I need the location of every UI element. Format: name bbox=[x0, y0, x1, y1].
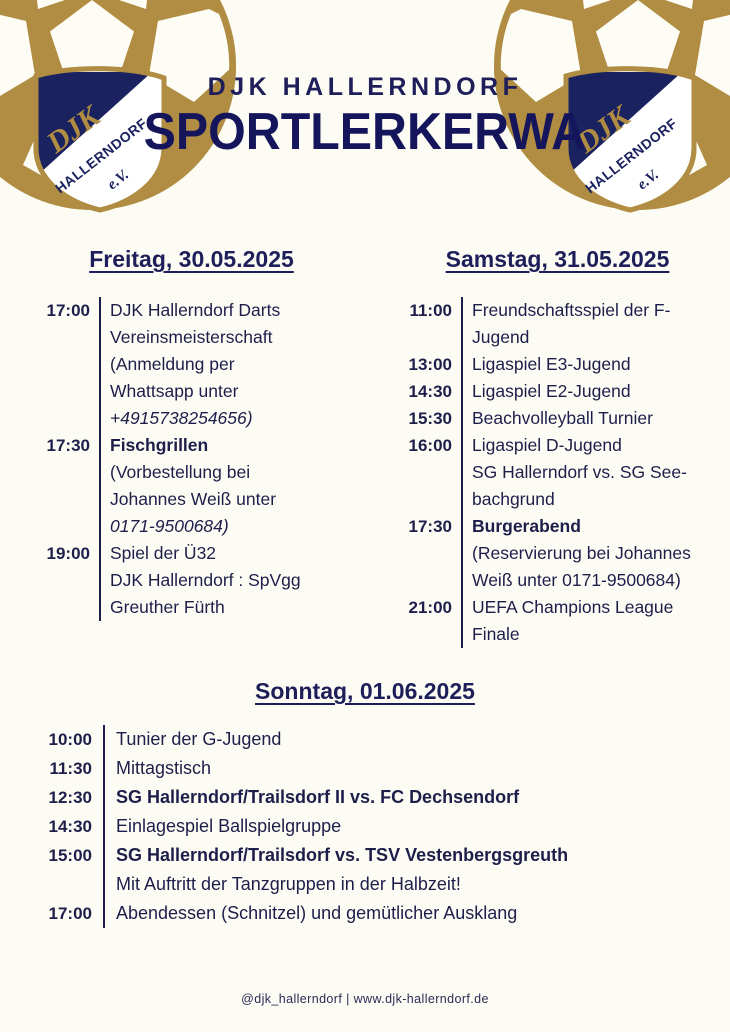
event-text: DJK Hallerndorf Darts bbox=[110, 297, 301, 324]
title-block: DJK HALLERNDORF SPORTLERKERWA bbox=[0, 0, 730, 232]
event-text: Abendessen (Schnitzel) und gemütlicher A… bbox=[116, 899, 568, 928]
event-text: SG Hallerndorf/Trailsdorf II vs. FC Dech… bbox=[116, 783, 568, 812]
time-spacer bbox=[85, 324, 90, 351]
event-text: UEFA Champions League bbox=[472, 594, 691, 621]
event-list-sonntag: Tunier der G-JugendMittagstischSG Haller… bbox=[105, 725, 568, 928]
event-text: Fischgrillen bbox=[110, 432, 301, 459]
time-spacer bbox=[87, 870, 92, 899]
event-text: Mittagstisch bbox=[116, 754, 568, 783]
event-time: 12:30 bbox=[49, 783, 92, 812]
schedule-samstag: 11:00 13:0014:3015:3016:00 17:30 21:00 F… bbox=[390, 297, 730, 648]
event-text: Burgerabend bbox=[472, 513, 691, 540]
event-time: 17:00 bbox=[47, 297, 90, 324]
time-list-samstag: 11:00 13:0014:3015:3016:00 17:30 21:00 bbox=[390, 297, 461, 648]
day-heading-freitag: Freitag, 30.05.2025 bbox=[18, 246, 365, 273]
time-spacer bbox=[447, 567, 452, 594]
event-time: 13:00 bbox=[409, 351, 452, 378]
time-spacer bbox=[85, 378, 90, 405]
time-spacer bbox=[85, 594, 90, 621]
day-heading-samstag: Samstag, 31.05.2025 bbox=[385, 246, 730, 273]
event-time: 17:30 bbox=[409, 513, 452, 540]
event-time: 14:30 bbox=[49, 812, 92, 841]
schedule-sonntag: 10:0011:3012:3014:3015:00 17:00 Tunier d… bbox=[0, 725, 730, 928]
schedule-freitag: 17:00 17:30 19:00 DJK Hallerndorf DartsV… bbox=[28, 297, 365, 621]
event-text: Ligaspiel D-Jugend bbox=[472, 432, 691, 459]
time-spacer bbox=[85, 351, 90, 378]
event-text: Whattsapp unter bbox=[110, 378, 301, 405]
time-list-freitag: 17:00 17:30 19:00 bbox=[28, 297, 99, 621]
day-columns: Freitag, 30.05.2025 17:00 17:30 19:00 DJ… bbox=[0, 246, 730, 648]
time-spacer bbox=[447, 540, 452, 567]
time-spacer bbox=[85, 405, 90, 432]
event-text: Weiß unter 0171-9500684) bbox=[472, 567, 691, 594]
event-text: (Anmeldung per bbox=[110, 351, 301, 378]
event-text: 0171-9500684) bbox=[110, 513, 301, 540]
event-list-freitag: DJK Hallerndorf DartsVereinsmeisterschaf… bbox=[101, 297, 301, 621]
event-list-samstag: Freundschaftsspiel der F-JugendLigaspiel… bbox=[463, 297, 691, 648]
event-text: Tunier der G-Jugend bbox=[116, 725, 568, 754]
event-text: Ligaspiel E2-Jugend bbox=[472, 378, 691, 405]
event-time: 19:00 bbox=[47, 540, 90, 567]
time-spacer bbox=[85, 459, 90, 486]
event-text: Beachvolleyball Turnier bbox=[472, 405, 691, 432]
event-text: Jugend bbox=[472, 324, 691, 351]
time-spacer bbox=[85, 513, 90, 540]
time-spacer bbox=[85, 486, 90, 513]
event-text: Ligaspiel E3-Jugend bbox=[472, 351, 691, 378]
event-time: 11:00 bbox=[409, 297, 452, 324]
event-text: Johannes Weiß unter bbox=[110, 486, 301, 513]
event-time: 17:00 bbox=[49, 899, 92, 928]
time-spacer bbox=[447, 486, 452, 513]
event-time: 11:30 bbox=[49, 754, 92, 783]
event-time: 15:00 bbox=[49, 841, 92, 870]
time-spacer bbox=[447, 324, 452, 351]
event-text: DJK Hallerndorf : SpVgg bbox=[110, 567, 301, 594]
event-text: (Vorbestellung bei bbox=[110, 459, 301, 486]
event-text: Vereinsmeisterschaft bbox=[110, 324, 301, 351]
event-time: 16:00 bbox=[409, 432, 452, 459]
day-column-freitag: Freitag, 30.05.2025 17:00 17:30 19:00 DJ… bbox=[0, 246, 365, 648]
poster-header: DJK HALLERNDORF e.V. DJK HALLERNDORF e.V… bbox=[0, 0, 730, 232]
event-text: SG Hallerndorf vs. SG See- bbox=[472, 459, 691, 486]
footer-contact: @djk_hallerndorf | www.djk-hallerndorf.d… bbox=[0, 992, 730, 1006]
event-text: Finale bbox=[472, 621, 691, 648]
time-list-sonntag: 10:0011:3012:3014:3015:00 17:00 bbox=[30, 725, 103, 928]
page-title: SPORTLERKERWA bbox=[144, 106, 586, 158]
event-text: Mit Auftritt der Tanzgruppen in der Halb… bbox=[116, 870, 568, 899]
event-text: +4915738254656) bbox=[110, 405, 301, 432]
event-time: 14:30 bbox=[409, 378, 452, 405]
event-text: Spiel der Ü32 bbox=[110, 540, 301, 567]
event-text: Freundschaftsspiel der F- bbox=[472, 297, 691, 324]
time-spacer bbox=[447, 621, 452, 648]
event-time: 17:30 bbox=[47, 432, 90, 459]
day-heading-sonntag: Sonntag, 01.06.2025 bbox=[0, 678, 730, 705]
day-column-samstag: Samstag, 31.05.2025 11:00 13:0014:3015:3… bbox=[365, 246, 730, 648]
event-time: 21:00 bbox=[409, 594, 452, 621]
time-spacer bbox=[447, 459, 452, 486]
event-time: 10:00 bbox=[49, 725, 92, 754]
poster-root: DJK HALLERNDORF e.V. DJK HALLERNDORF e.V… bbox=[0, 0, 730, 1032]
event-text: (Reservierung bei Johannes bbox=[472, 540, 691, 567]
event-text: SG Hallerndorf/Trailsdorf vs. TSV Vesten… bbox=[116, 841, 568, 870]
day-section-sonntag: Sonntag, 01.06.2025 10:0011:3012:3014:30… bbox=[0, 678, 730, 928]
club-name-kicker: DJK HALLERNDORF bbox=[208, 75, 523, 100]
event-text: Einlagespiel Ballspielgruppe bbox=[116, 812, 568, 841]
time-spacer bbox=[85, 567, 90, 594]
event-time: 15:30 bbox=[409, 405, 452, 432]
event-text: Greuther Fürth bbox=[110, 594, 301, 621]
event-text: bachgrund bbox=[472, 486, 691, 513]
